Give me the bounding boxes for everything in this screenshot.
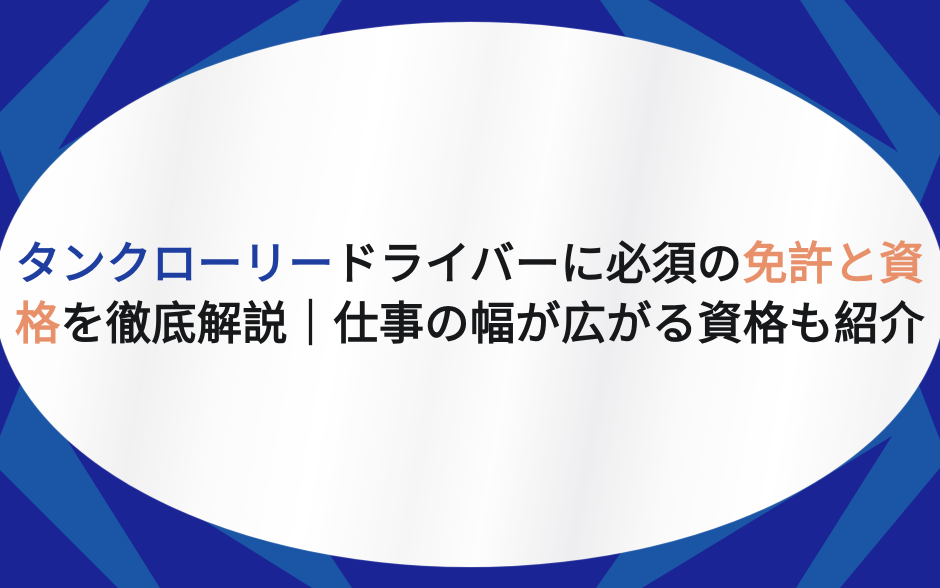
title-line-2: 格を徹底解説｜仕事の幅が広がる資格も紹介 [0,293,940,355]
title-segment-body-2: を徹底解説｜仕事の幅が広がる資格も紹介 [61,298,926,349]
title-segment-body-1: ドライバーに必須の [334,238,743,289]
title-segment-highlight-1: 免許と資 [743,238,925,289]
title-segment-highlight-2: 格 [15,298,61,349]
article-thumbnail-banner: タンクローリードライバーに必須の免許と資 格を徹底解説｜仕事の幅が広がる資格も紹… [0,0,940,588]
title-block: タンクローリードライバーに必須の免許と資 格を徹底解説｜仕事の幅が広がる資格も紹… [0,0,940,588]
title-line-1: タンクローリードライバーに必須の免許と資 [0,233,940,295]
title-segment-brand: タンクローリー [15,238,334,289]
